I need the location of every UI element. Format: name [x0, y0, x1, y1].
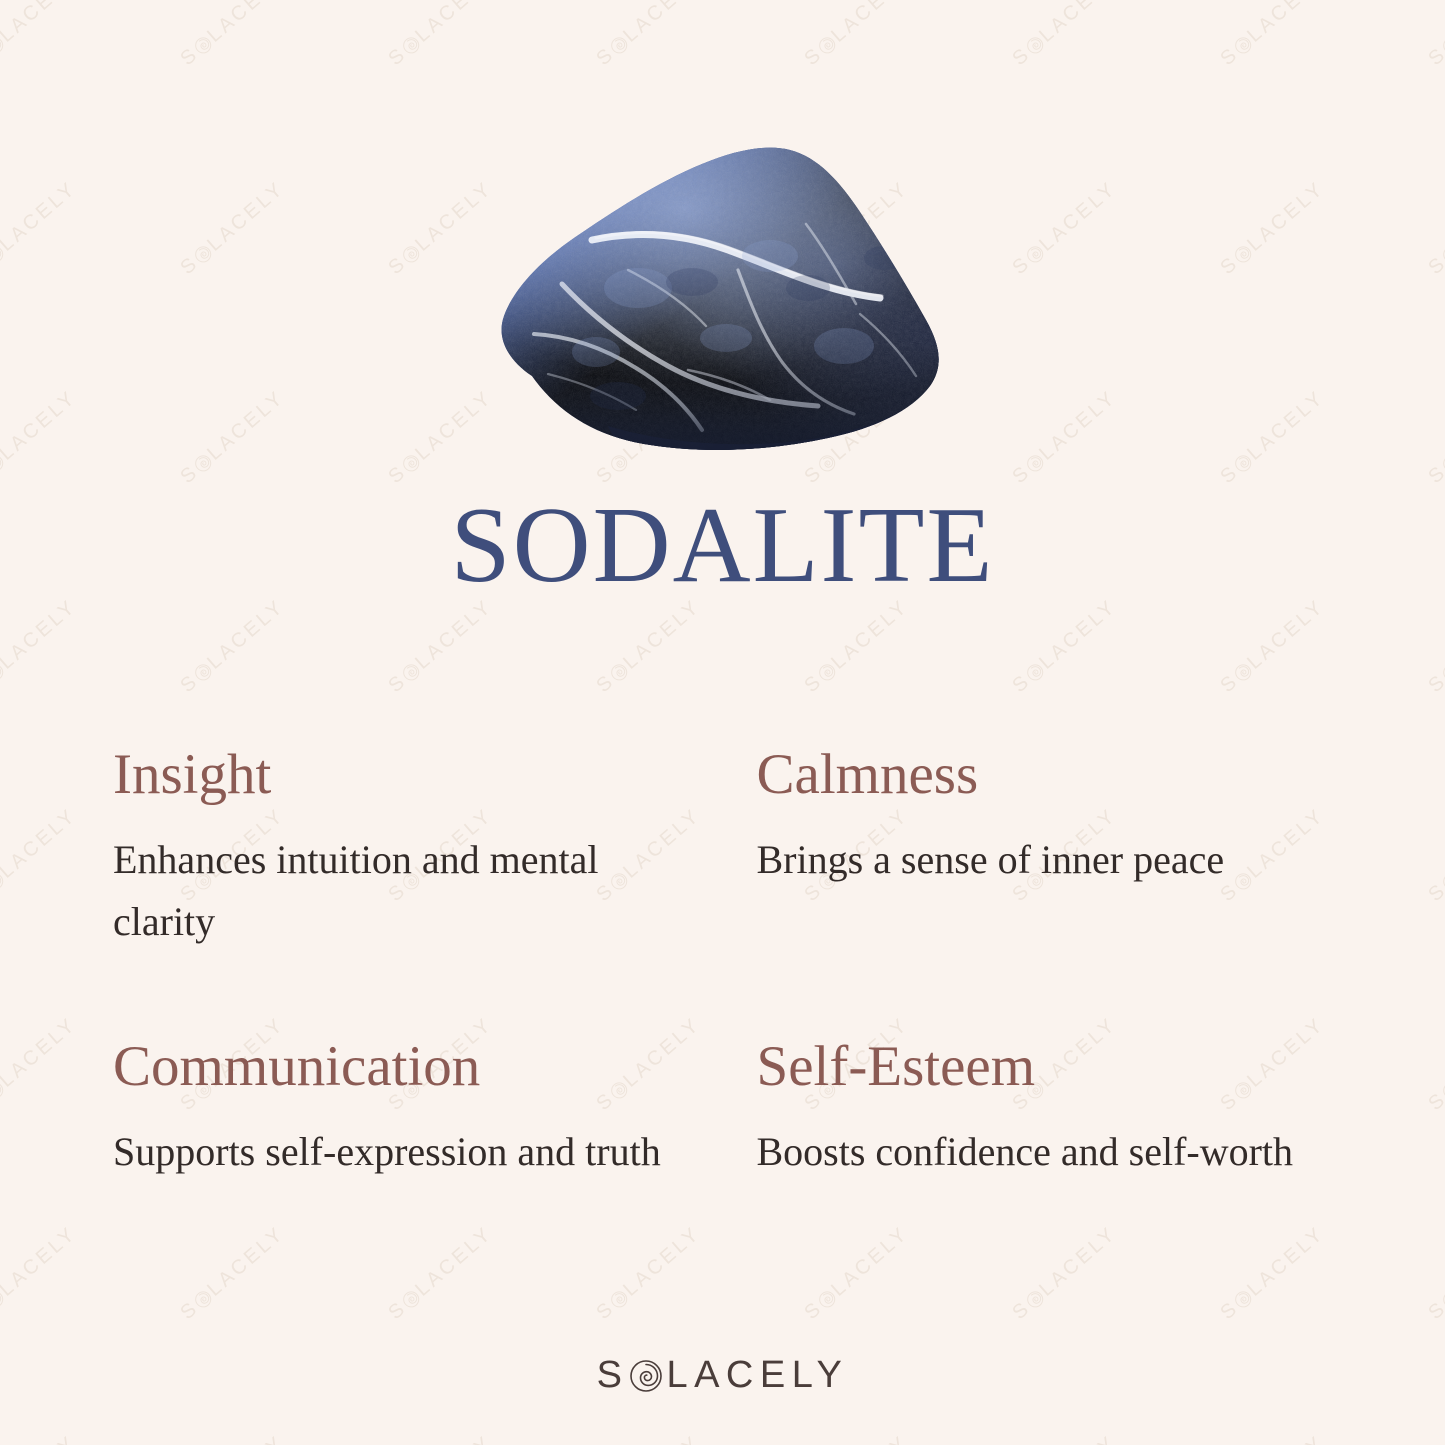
watermark-text: SLACELY	[1008, 1222, 1121, 1325]
brand-footer: S LACELY	[0, 1354, 1445, 1397]
watermark-text: SLACELY	[0, 1013, 82, 1116]
watermark-text: SLACELY	[176, 1431, 289, 1445]
watermark-text: SLACELY	[592, 595, 705, 698]
solacely-logo: S LACELY	[597, 1354, 849, 1397]
watermark-text: SLACELY	[176, 1222, 289, 1325]
watermark-text: SLACELY	[176, 595, 289, 698]
property-title: Communication	[113, 1038, 700, 1095]
watermark-text: SLACELY	[800, 595, 913, 698]
watermark-text: SLACELY	[800, 1222, 913, 1325]
watermark-text: SLACELY	[0, 1222, 82, 1325]
watermark-text: SLACELY	[384, 1431, 497, 1445]
property-description: Brings a sense of inner peace	[757, 829, 1317, 891]
watermark-text: SLACELY	[384, 1222, 497, 1325]
property-description: Enhances intuition and mental clarity	[113, 829, 673, 953]
property-card-communication: Communication Supports self-expression a…	[113, 953, 700, 1183]
watermark-text: SLACELY	[176, 0, 289, 71]
watermark-text: SLACELY	[1008, 1431, 1121, 1445]
page-title: SODALITE	[0, 492, 1445, 600]
watermark-text: SLACELY	[0, 0, 82, 71]
watermark-text: SLACELY	[1008, 595, 1121, 698]
property-title: Self-Esteem	[757, 1038, 1344, 1095]
logo-text-post: LACELY	[666, 1354, 848, 1397]
watermark-text: SLACELY	[800, 1431, 913, 1445]
watermark-text: SLACELY	[0, 804, 82, 907]
property-card-self-esteem: Self-Esteem Boosts confidence and self-w…	[757, 953, 1344, 1183]
spiral-icon	[629, 1359, 663, 1393]
watermark-text: SLACELY	[592, 1431, 705, 1445]
watermark-text: SLACELY	[1424, 595, 1445, 698]
watermark-text: SLACELY	[1216, 595, 1329, 698]
watermark-text: SLACELY	[1424, 1222, 1445, 1325]
watermark-text: SLACELY	[384, 0, 497, 71]
watermark-text: SLACELY	[1216, 0, 1329, 71]
property-description: Supports self-expression and truth	[113, 1121, 673, 1183]
watermark-text: SLACELY	[0, 1431, 82, 1445]
watermark-text: SLACELY	[1008, 0, 1121, 71]
watermark-text: SLACELY	[0, 595, 82, 698]
watermark-text: SLACELY	[1216, 1222, 1329, 1325]
sodalite-stone-image	[0, 138, 1445, 468]
logo-text-pre: S	[597, 1354, 629, 1397]
watermark-text: SLACELY	[1424, 1013, 1445, 1116]
property-card-calmness: Calmness Brings a sense of inner peace	[757, 746, 1344, 953]
watermark-text: SLACELY	[384, 595, 497, 698]
property-description: Boosts confidence and self-worth	[757, 1121, 1317, 1183]
sodalite-info-card: SLACELYSLACELYSLACELYSLACELYSLACELYSLACE…	[0, 0, 1445, 1445]
watermark-text: SLACELY	[592, 0, 705, 71]
property-title: Insight	[113, 746, 700, 803]
watermark-text: SLACELY	[800, 0, 913, 71]
properties-grid: Insight Enhances intuition and mental cl…	[113, 746, 1343, 1183]
watermark-text: SLACELY	[1424, 0, 1445, 71]
watermark-text: SLACELY	[1424, 804, 1445, 907]
property-title: Calmness	[757, 746, 1344, 803]
watermark-text: SLACELY	[1216, 1431, 1329, 1445]
sodalite-stone-graphic	[488, 138, 958, 458]
watermark-text: SLACELY	[1424, 1431, 1445, 1445]
property-card-insight: Insight Enhances intuition and mental cl…	[113, 746, 700, 953]
watermark-text: SLACELY	[592, 1222, 705, 1325]
